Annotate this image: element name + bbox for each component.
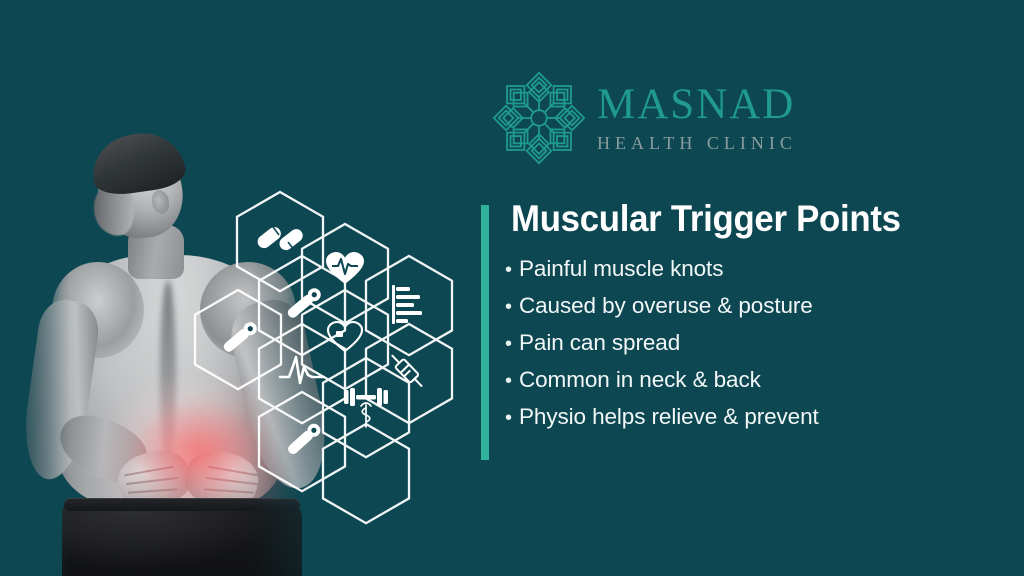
list-item: •Painful muscle knots [505,251,1005,288]
thermometer-icon [221,320,260,355]
thermometer-icon [285,421,323,457]
accent-bar [481,205,489,460]
list-item: •Caused by overuse & posture [505,288,1005,325]
list-item: •Pain can spread [505,325,1005,362]
brand-subtitle: HEALTH CLINIC [597,133,797,154]
mandala-icon [487,66,591,170]
content-panel: Muscular Trigger Points •Painful muscle … [505,200,1005,436]
bullet-marker-icon: • [505,327,519,362]
list-item-label: Pain can spread [519,325,680,360]
heart-ecg-icon [326,252,364,284]
slide-canvas: MASNAD HEALTH CLINIC Muscular Trigger Po… [0,0,1024,576]
bullet-list: •Painful muscle knots•Caused by overuse … [505,251,1005,436]
page-title: Muscular Trigger Points [511,200,975,237]
bullet-marker-icon: • [505,364,519,399]
list-item-label: Painful muscle knots [519,251,723,286]
figure-shorts [62,500,302,576]
thermometer-icon [285,286,324,321]
list-item: •Common in neck & back [505,362,1005,399]
figure-spine-shadow [160,280,176,470]
medical-hexagon-cluster [218,178,483,508]
bullet-marker-icon: • [505,290,519,325]
syringe-icon [388,352,426,391]
list-item: •Physio helps relieve & prevent [505,399,1005,436]
brand-wordmark: MASNAD HEALTH CLINIC [597,83,797,154]
bullet-marker-icon: • [505,401,519,436]
brand-name: MASNAD [597,83,797,126]
list-item-label: Common in neck & back [519,362,761,397]
list-item-label: Caused by overuse & posture [519,288,813,323]
brand-logo: MASNAD HEALTH CLINIC [487,66,777,170]
list-item-label: Physio helps relieve & prevent [519,399,819,434]
bullet-marker-icon: • [505,253,519,288]
pills-icon [255,224,305,252]
bar-chart-icon [392,285,422,324]
